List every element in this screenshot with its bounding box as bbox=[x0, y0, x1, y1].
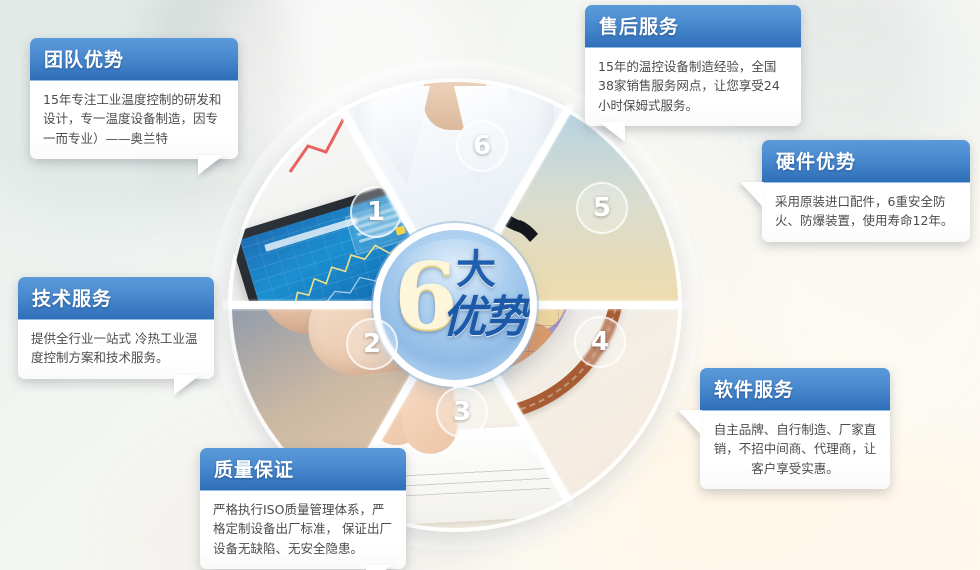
callout-body: 严格执行ISO质量管理体系，严格定制设备出厂标准， 保证出厂设备无缺陷、无安全隐… bbox=[200, 491, 406, 569]
callout-quality-assurance[interactable]: 质量保证 严格执行ISO质量管理体系，严格定制设备出厂标准， 保证出厂设备无缺陷… bbox=[200, 448, 406, 569]
segment-number-1[interactable]: 1 bbox=[350, 186, 402, 238]
callout-title: 软件服务 bbox=[700, 368, 890, 411]
callout-tail bbox=[599, 122, 625, 142]
callout-technical-service[interactable]: 技术服务 提供全行业一站式 冷热工业温度控制方案和技术服务。 bbox=[18, 277, 214, 379]
callout-after-sales-service[interactable]: 售后服务 15年的温控设备制造经验，全国38家销售服务网点，让您享受24小时保姆… bbox=[585, 5, 801, 126]
segment-number-4[interactable]: 4 bbox=[574, 316, 626, 368]
callout-tail bbox=[174, 375, 200, 395]
callout-tail bbox=[740, 182, 764, 208]
callout-software-service[interactable]: 软件服务 自主品牌、自行制造、厂家直销，不招中间商、代理商，让客户享受实惠。 bbox=[700, 368, 890, 489]
callout-body: 自主品牌、自行制造、厂家直销，不招中间商、代理商，让客户享受实惠。 bbox=[700, 411, 890, 489]
segment-number-6[interactable]: 6 bbox=[456, 120, 508, 172]
callout-team-advantage[interactable]: 团队优势 15年专注工业温度控制的研发和设计，专一温度设备制造，因专一而专业）—… bbox=[30, 38, 238, 159]
callout-title: 硬件优势 bbox=[762, 140, 970, 183]
callout-tail bbox=[678, 410, 702, 436]
callout-body: 提供全行业一站式 冷热工业温度控制方案和技术服务。 bbox=[18, 320, 214, 379]
callout-title: 售后服务 bbox=[585, 5, 801, 48]
segment-number-2[interactable]: 2 bbox=[346, 318, 398, 370]
infographic-canvas: INTC 440.86 6 大 优势 1 2 3 4 5 6 bbox=[0, 0, 980, 570]
callout-title: 质量保证 bbox=[200, 448, 406, 491]
segment-number-3[interactable]: 3 bbox=[436, 386, 488, 438]
callout-hardware-advantage[interactable]: 硬件优势 采用原装进口配件，6重安全防火、防爆装置，使用寿命12年。 bbox=[762, 140, 970, 242]
callout-body: 15年专注工业温度控制的研发和设计，专一温度设备制造，因专一而专业）——奥兰特 bbox=[30, 81, 238, 159]
center-badge: 6 大 优势 bbox=[380, 230, 530, 380]
callout-tail bbox=[366, 565, 392, 570]
red-trend-line bbox=[286, 78, 476, 180]
callout-body: 采用原装进口配件，6重安全防火、防爆装置，使用寿命12年。 bbox=[762, 183, 970, 242]
segment-number-5[interactable]: 5 bbox=[576, 182, 628, 234]
callout-body: 15年的温控设备制造经验，全国38家销售服务网点，让您享受24小时保姆式服务。 bbox=[585, 48, 801, 126]
callout-tail bbox=[198, 155, 224, 175]
center-sub-label: 优势 bbox=[442, 296, 526, 340]
callout-title: 技术服务 bbox=[18, 277, 214, 320]
callout-title: 团队优势 bbox=[30, 38, 238, 81]
center-big-label: 大 bbox=[456, 250, 496, 290]
